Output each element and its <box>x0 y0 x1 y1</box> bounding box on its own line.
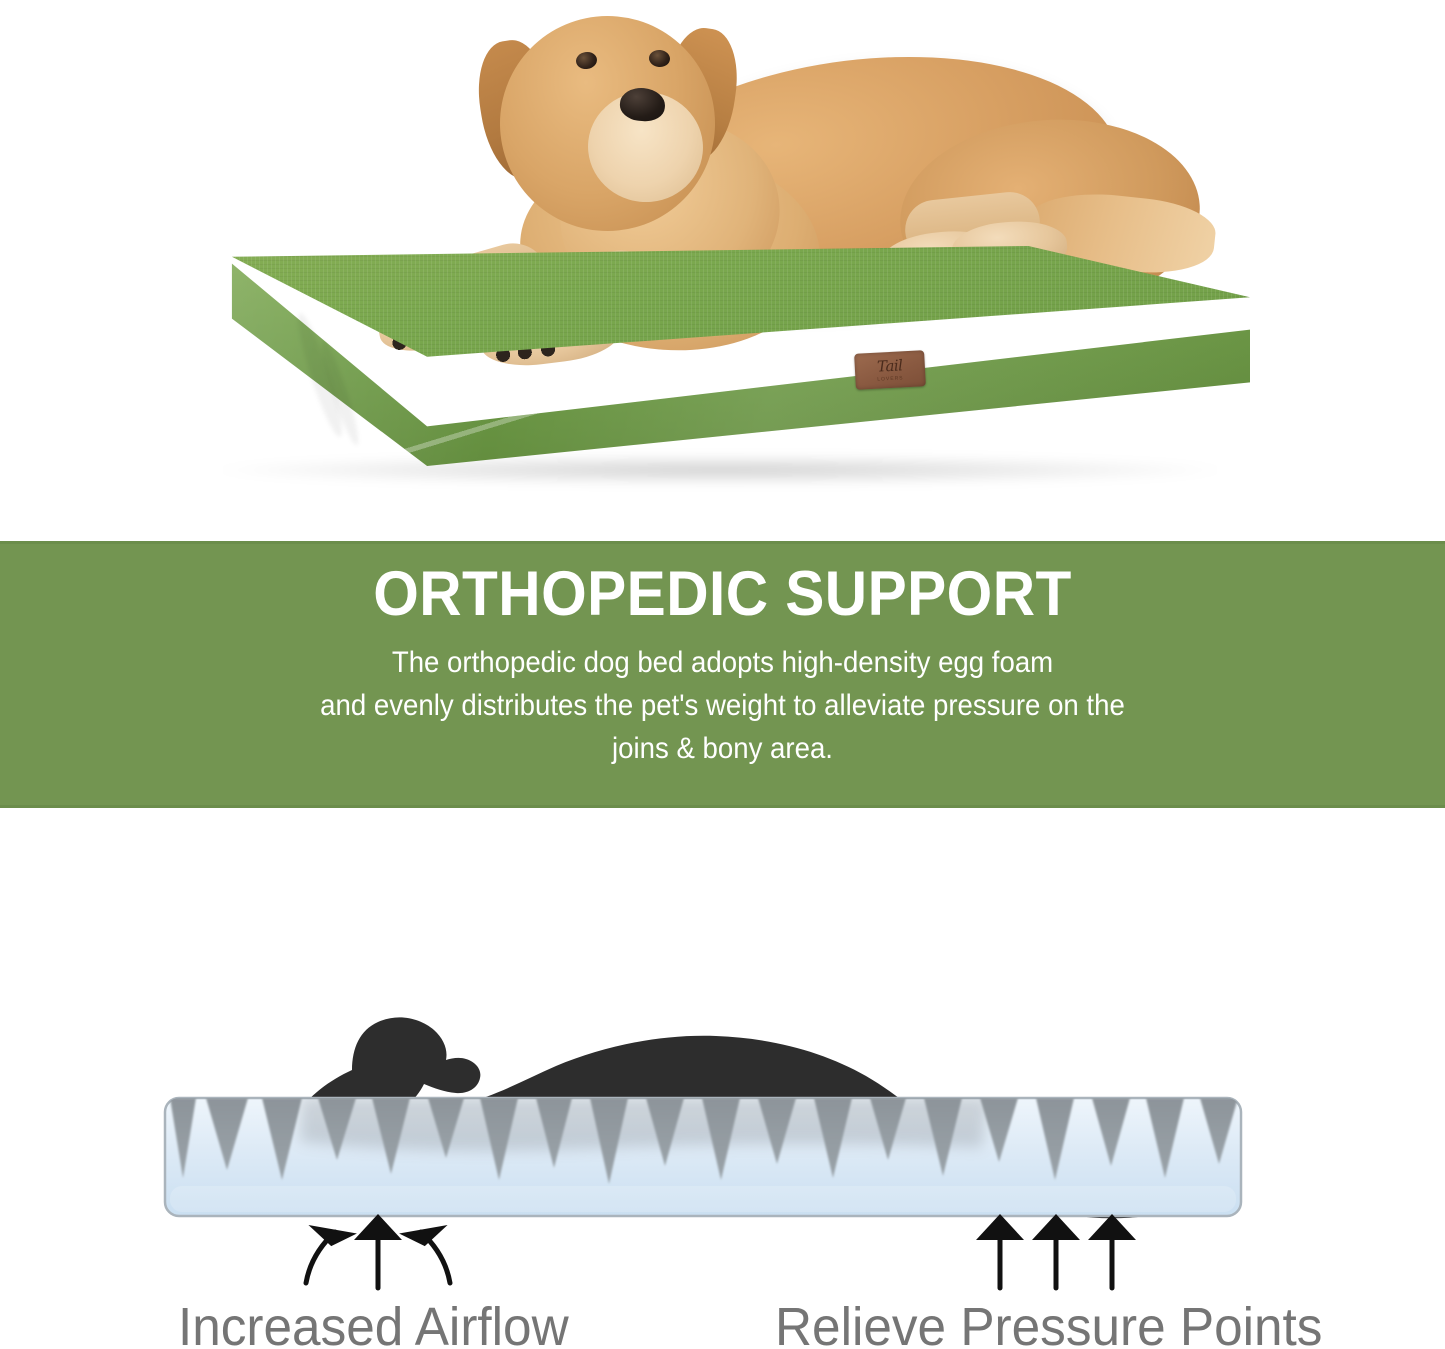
brand-tag-subtext: LOVERS <box>877 375 904 382</box>
brand-leather-tag: Tail LOVERS <box>854 350 926 390</box>
label-relieve-pressure-points: Relieve Pressure Points <box>775 1296 1322 1349</box>
foam-bottom-highlight <box>170 1186 1236 1212</box>
hero-photo-section: Tail LOVERS <box>0 0 1445 541</box>
egg-crate-foam-block <box>165 1096 1241 1216</box>
banner-title: ORTHOPEDIC SUPPORT <box>51 544 1395 626</box>
orthopedic-support-banner: ORTHOPEDIC SUPPORT The orthopedic dog be… <box>0 541 1445 808</box>
diagram-illustration <box>0 808 1445 1349</box>
banner-description-line-3: joins & bony area. <box>58 728 1387 771</box>
label-increased-airflow: Increased Airflow <box>178 1296 569 1349</box>
pressure-arrows <box>976 1214 1136 1288</box>
banner-description: The orthopedic dog bed adopts high-densi… <box>58 626 1387 771</box>
banner-description-line-1: The orthopedic dog bed adopts high-densi… <box>58 642 1387 685</box>
airflow-arrows <box>306 1214 450 1288</box>
orthopedic-dog-bed <box>195 246 1250 486</box>
brand-tag-text: Tail <box>877 358 903 374</box>
product-infographic-page: Tail LOVERS ORTHOPEDIC SUPPORT The ortho… <box>0 0 1445 1349</box>
banner-description-line-2: and evenly distributes the pet's weight … <box>58 685 1387 728</box>
foam-cross-section-diagram <box>0 808 1445 1349</box>
